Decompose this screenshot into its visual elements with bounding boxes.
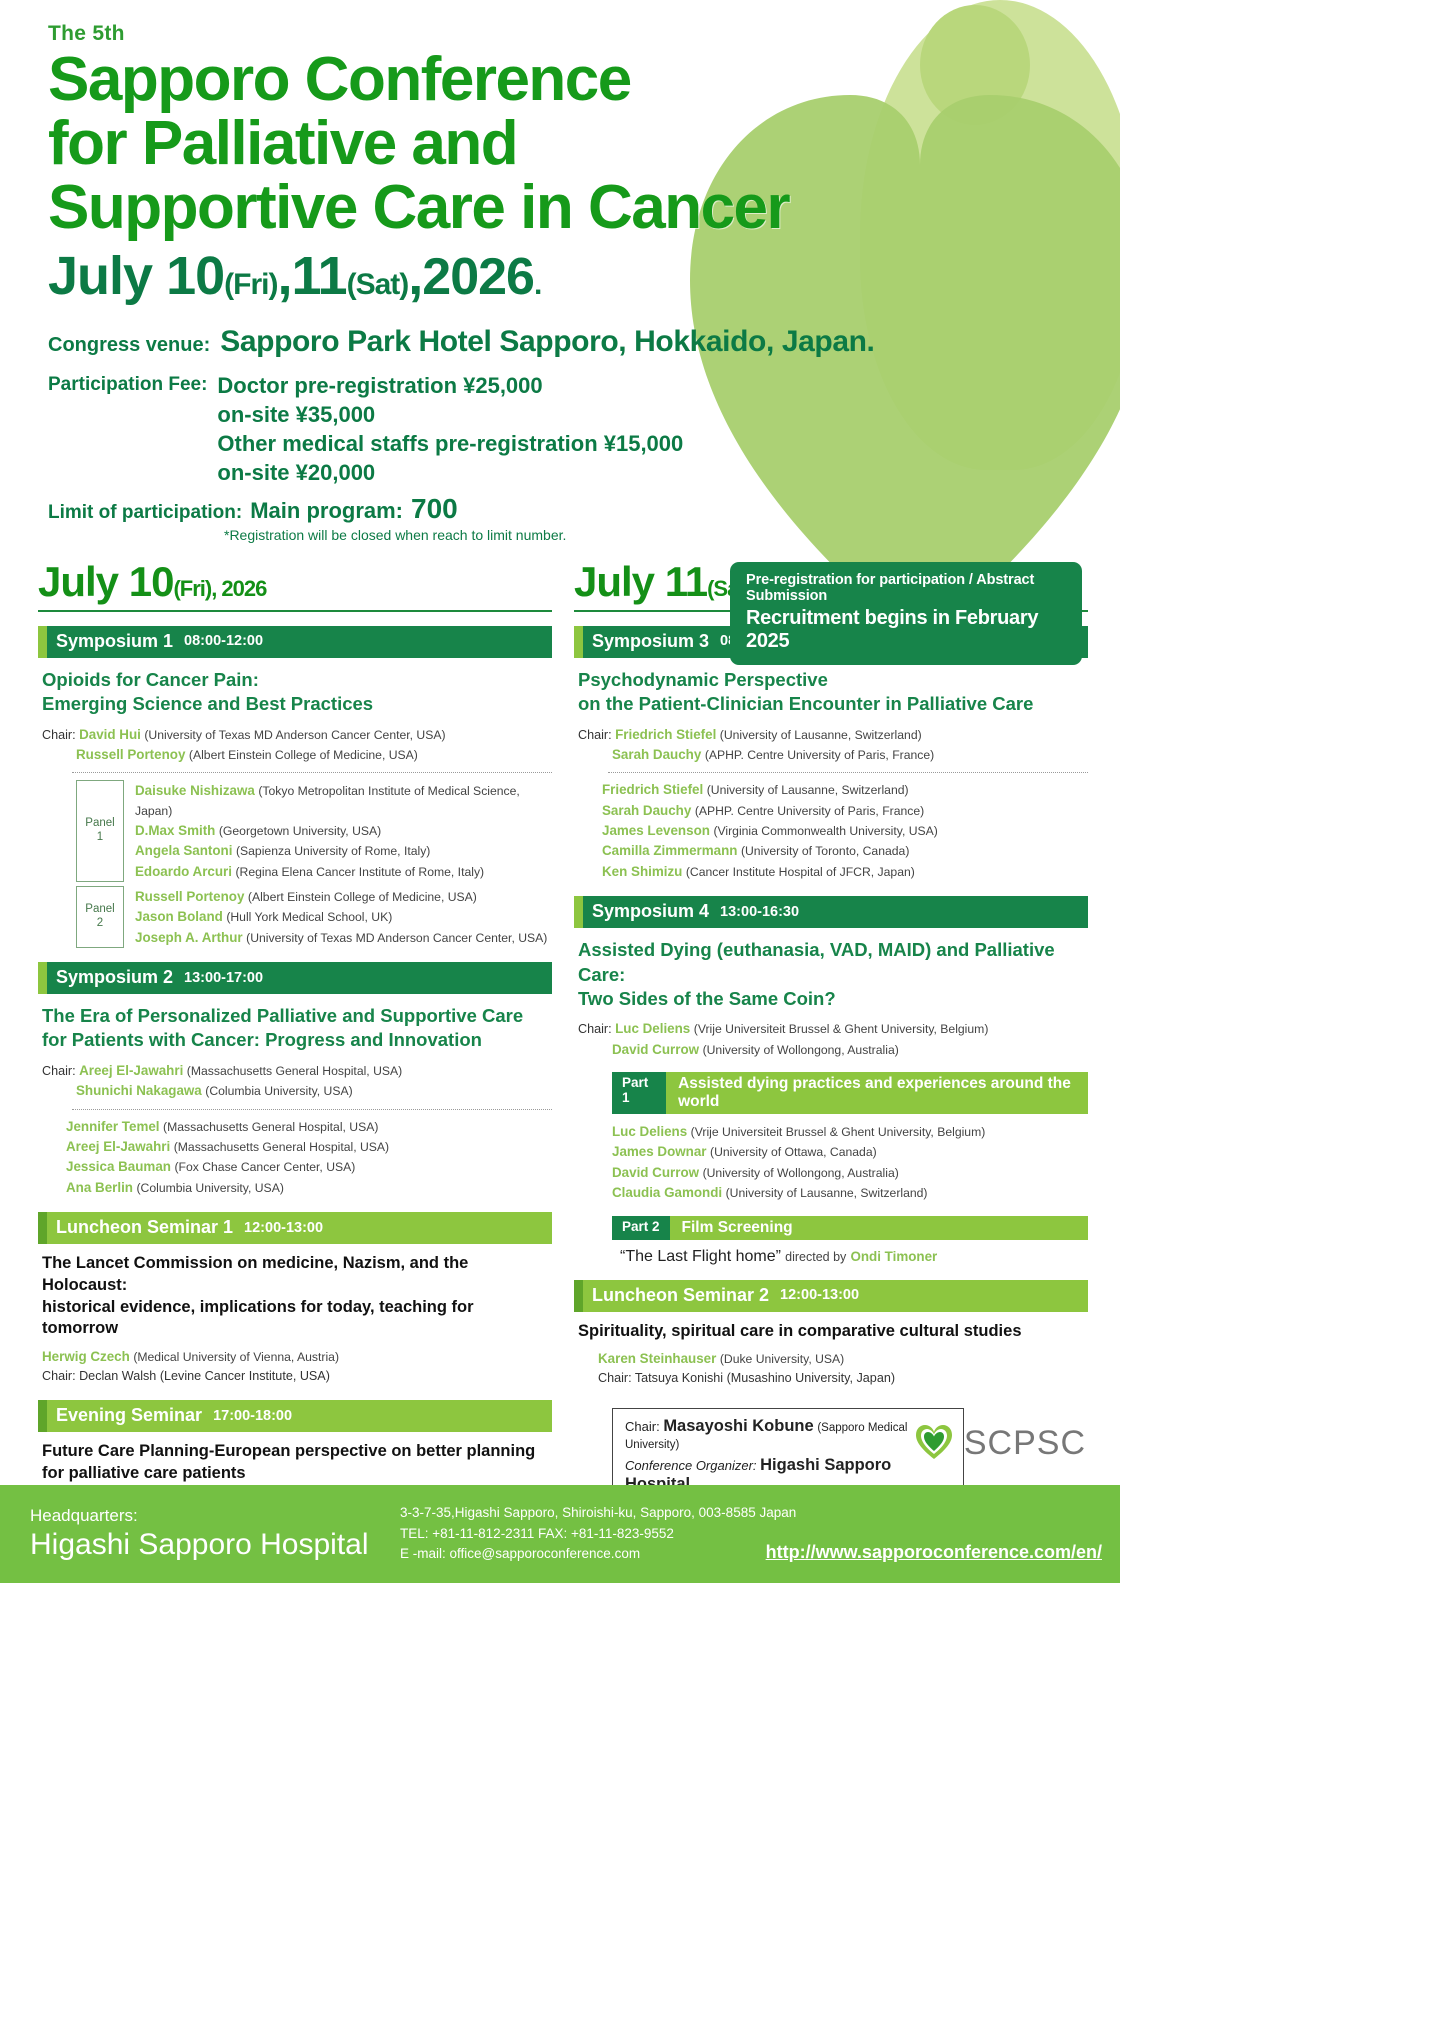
conference-dates: July 10(Fri),11(Sat),2026. xyxy=(48,249,1120,303)
day-1-rule xyxy=(38,610,552,612)
chair-affiliation: (Massachusetts General Hospital, USA) xyxy=(187,1064,402,1078)
session-bar-luncheon-2: Luncheon Seminar 2 12:00-13:00 xyxy=(574,1280,1088,1312)
speaker-affiliation: (Albert Einstein College of Medicine, US… xyxy=(248,890,477,904)
chair-line: Shunichi Nakagawa (Columbia University, … xyxy=(42,1081,552,1101)
speaker-line: Camilla Zimmermann (University of Toront… xyxy=(602,841,1088,861)
speaker-line: Areej El-Jawahri (Massachusetts General … xyxy=(66,1137,552,1157)
panel-row-1: Panel 1 Daisuke Nishizawa (Tokyo Metropo… xyxy=(76,780,552,882)
speaker-name: Claudia Gamondi xyxy=(612,1185,722,1200)
chair-line: Chair: David Hui (University of Texas MD… xyxy=(42,725,552,745)
speaker-affiliation: (Hull York Medical School, UK) xyxy=(226,910,392,924)
day-1-column: July 10(Fri), 2026 Symposium 1 08:00-12:… xyxy=(38,561,552,1550)
speaker-name: Friedrich Stiefel xyxy=(602,782,703,797)
chair-affiliation: (University of Lausanne, Switzerland) xyxy=(720,728,922,742)
speaker-line: James Levenson (Virginia Commonwealth Un… xyxy=(602,821,1088,841)
speaker-name: Ana Berlin xyxy=(66,1180,133,1195)
organizer-label: Conference Organizer: xyxy=(625,1458,757,1473)
chairs-symposium-4: Chair: Luc Deliens (Vrije Universiteit B… xyxy=(578,1019,1088,1060)
part-2-bar: Part 2 Film Screening xyxy=(612,1216,1088,1240)
date-day-1: 10 xyxy=(166,246,224,306)
speaker-name: Luc Deliens xyxy=(612,1124,687,1139)
speaker-affiliation: (Fox Chase Cancer Center, USA) xyxy=(174,1160,355,1174)
date-day-2: 11 xyxy=(292,246,347,306)
part-1-title: Assisted dying practices and experiences… xyxy=(666,1072,1088,1114)
speaker-line: Ana Berlin (Columbia University, USA) xyxy=(66,1178,552,1198)
edition-kicker: The 5th xyxy=(48,22,1120,46)
luncheon-1-speaker: Herwig Czech (Medical University of Vien… xyxy=(42,1347,552,1367)
limit-number: 700 xyxy=(411,493,458,525)
chairs-symposium-3: Chair: Friedrich Stiefel (University of … xyxy=(578,725,1088,766)
speaker-line: Russell Portenoy (Albert Einstein Colleg… xyxy=(135,887,547,907)
chair-label: Chair: xyxy=(578,728,612,742)
session-title-symposium-4: Assisted Dying (euthanasia, VAD, MAID) a… xyxy=(578,938,1088,1011)
speaker-affiliation: (Duke University, USA) xyxy=(720,1352,844,1366)
panel-label: Panel xyxy=(85,817,114,831)
chair-name: Sarah Dauchy xyxy=(612,747,701,762)
speaker-line: D.Max Smith (Georgetown University, USA) xyxy=(135,821,552,841)
session-bar-luncheon-1: Luncheon Seminar 1 12:00-13:00 xyxy=(38,1212,552,1244)
divider-dotted xyxy=(608,772,1088,773)
poster-footer: Headquarters: Higashi Sapporo Hospital 3… xyxy=(0,1485,1120,1583)
part-1-speaker-list: Luc Deliens (Vrije Universiteit Brussel … xyxy=(612,1122,1088,1204)
organizer-chair-label: Chair: xyxy=(625,1419,660,1434)
session-time: 17:00-18:00 xyxy=(213,1408,292,1424)
panel-box-2: Panel 2 xyxy=(76,886,124,948)
organizer-chair-row: Chair: Masayoshi Kobune (Sapporo Medical… xyxy=(625,1417,951,1451)
speaker-affiliation: (Georgetown University, USA) xyxy=(219,824,381,838)
date-year: 2026 xyxy=(422,248,534,306)
participation-fee-block: Participation Fee: Doctor pre-registrati… xyxy=(48,371,1120,487)
divider-dotted xyxy=(72,772,552,773)
session-time: 12:00-13:00 xyxy=(780,1287,859,1303)
speaker-name: Daisuke Nishizawa xyxy=(135,783,255,798)
speaker-affiliation: (Massachusetts General Hospital, USA) xyxy=(163,1120,378,1134)
speaker-name: Areej El-Jawahri xyxy=(66,1139,170,1154)
date-month: July xyxy=(48,246,152,306)
speaker-affiliation: (APHP. Centre University of Paris, Franc… xyxy=(695,804,924,818)
fee-line-doctor-pre: Doctor pre-registration ¥25,000 xyxy=(217,371,683,400)
session-name: Symposium 2 xyxy=(47,967,173,988)
speaker-line: Luc Deliens (Vrije Universiteit Brussel … xyxy=(612,1122,1088,1142)
chair-line: Sarah Dauchy (APHP. Centre University of… xyxy=(578,745,1088,765)
panel-number: 1 xyxy=(97,831,103,845)
session-title-luncheon-1: The Lancet Commission on medicine, Nazis… xyxy=(42,1253,552,1340)
speaker-affiliation: (University of Toronto, Canada) xyxy=(741,844,909,858)
chair-name: Areej El-Jawahri xyxy=(79,1063,183,1078)
chair-affiliation: (University of Wollongong, Australia) xyxy=(703,1043,899,1057)
scpsc-logo: SCPSC xyxy=(914,1423,1086,1463)
poster-header: The 5th Sapporo Conference for Palliativ… xyxy=(0,0,1120,543)
part-1-tag: Part 1 xyxy=(612,1072,666,1114)
speaker-name: Herwig Czech xyxy=(42,1349,130,1364)
speaker-name: David Currow xyxy=(612,1165,699,1180)
speaker-line: Friedrich Stiefel (University of Lausann… xyxy=(602,780,1088,800)
speaker-affiliation: (University of Ottawa, Canada) xyxy=(710,1145,877,1159)
chair-label: Chair: xyxy=(42,728,76,742)
panel-box-1: Panel 1 xyxy=(76,780,124,882)
chair-line: Chair: Areej El-Jawahri (Massachusetts G… xyxy=(42,1061,552,1081)
film-title: “The Last Flight home” xyxy=(620,1248,781,1265)
speaker-line: Jessica Bauman (Fox Chase Cancer Center,… xyxy=(66,1157,552,1177)
speaker-list-symposium-3: Friedrich Stiefel (University of Lausann… xyxy=(602,780,1088,882)
session-bar-symposium-2: Symposium 2 13:00-17:00 xyxy=(38,962,552,994)
speaker-line: Jennifer Temel (Massachusetts General Ho… xyxy=(66,1117,552,1137)
fee-lines: Doctor pre-registration ¥25,000 on-site … xyxy=(217,371,683,487)
panel-speaker-list: Daisuke Nishizawa (Tokyo Metropolitan In… xyxy=(135,780,552,882)
speaker-line: James Downar (University of Ottawa, Cana… xyxy=(612,1142,1088,1162)
speaker-name: Jennifer Temel xyxy=(66,1119,160,1134)
speaker-name: D.Max Smith xyxy=(135,823,215,838)
chair-affiliation: (University of Texas MD Anderson Cancer … xyxy=(144,728,445,742)
panel-row-2: Panel 2 Russell Portenoy (Albert Einstei… xyxy=(76,886,552,948)
speaker-name: Ken Shimizu xyxy=(602,864,682,879)
speaker-affiliation: (Massachusetts General Hospital, USA) xyxy=(174,1140,389,1154)
chair-affiliation: (Columbia University, USA) xyxy=(205,1084,352,1098)
banner-line-1: Pre-registration for participation / Abs… xyxy=(746,572,1066,604)
chair-name: David Hui xyxy=(79,727,141,742)
date-period: . xyxy=(534,268,541,301)
speaker-line: Joseph A. Arthur (University of Texas MD… xyxy=(135,928,547,948)
session-name: Symposium 3 xyxy=(583,631,709,652)
limit-value: Main program: xyxy=(250,498,403,524)
chair-name: Shunichi Nakagawa xyxy=(76,1083,202,1098)
session-name: Symposium 4 xyxy=(583,901,709,922)
film-directed-label: directed by xyxy=(785,1250,846,1264)
chair-line: Chair: Luc Deliens (Vrije Universiteit B… xyxy=(578,1019,1088,1039)
venue-value: Sapporo Park Hotel Sapporo, Hokkaido, Ja… xyxy=(220,325,874,359)
day-1-title: July 10(Fri), 2026 xyxy=(38,561,552,603)
session-name: Symposium 1 xyxy=(47,631,173,652)
session-title-luncheon-2: Spirituality, spiritual care in comparat… xyxy=(578,1321,1088,1343)
speaker-affiliation: (Virginia Commonwealth University, USA) xyxy=(713,824,937,838)
speaker-line: Daisuke Nishizawa (Tokyo Metropolitan In… xyxy=(135,781,552,821)
speaker-name: Camilla Zimmermann xyxy=(602,843,737,858)
speaker-name: Joseph A. Arthur xyxy=(135,930,243,945)
limit-note: *Registration will be closed when reach … xyxy=(224,527,1120,543)
speaker-list-symposium-2: Jennifer Temel (Massachusetts General Ho… xyxy=(66,1117,552,1199)
luncheon-2-speaker: Karen Steinhauser (Duke University, USA) xyxy=(598,1349,1088,1369)
fee-line-doctor-onsite: on-site ¥35,000 xyxy=(217,400,683,429)
day-1-title-main: July 10 xyxy=(38,558,173,605)
date-dow-1: (Fri) xyxy=(224,268,277,301)
panel-speaker-list: Russell Portenoy (Albert Einstein Colleg… xyxy=(135,886,547,948)
venue-row: Congress venue: Sapporo Park Hotel Sappo… xyxy=(48,325,1120,359)
session-name: Luncheon Seminar 1 xyxy=(47,1217,233,1238)
speaker-line: David Currow (University of Wollongong, … xyxy=(612,1163,1088,1183)
session-bar-symposium-4: Symposium 4 13:00-16:30 xyxy=(574,896,1088,928)
chair-affiliation: (Albert Einstein College of Medicine, US… xyxy=(189,748,418,762)
session-title-evening: Future Care Planning-European perspectiv… xyxy=(42,1441,552,1485)
page-title: Sapporo Conference for Palliative and Su… xyxy=(48,48,1120,240)
speaker-affiliation: (University of Lausanne, Switzerland) xyxy=(707,783,909,797)
date-separator: , xyxy=(277,246,291,306)
speaker-line: Jason Boland (Hull York Medical School, … xyxy=(135,907,547,927)
chair-affiliation: (APHP. Centre University of Paris, Franc… xyxy=(705,748,934,762)
chair-line: Russell Portenoy (Albert Einstein Colleg… xyxy=(42,745,552,765)
part-1-bar: Part 1 Assisted dying practices and expe… xyxy=(612,1072,1088,1114)
footer-website-link[interactable]: http://www.sapporoconference.com/en/ xyxy=(766,1539,1102,1567)
speaker-affiliation: (University of Wollongong, Australia) xyxy=(703,1166,899,1180)
speaker-name: James Downar xyxy=(612,1144,707,1159)
part-2-tag: Part 2 xyxy=(612,1216,670,1240)
speaker-name: Karen Steinhauser xyxy=(598,1351,716,1366)
conference-poster: The 5th Sapporo Conference for Palliativ… xyxy=(0,0,1120,1583)
session-bar-symposium-1: Symposium 1 08:00-12:00 xyxy=(38,626,552,658)
luncheon-1-chair-note: Chair: Declan Walsh (Levine Cancer Insti… xyxy=(42,1367,552,1386)
title-line-2: for Palliative and xyxy=(48,112,1120,176)
footer-hq-name: Higashi Sapporo Hospital xyxy=(30,1528,400,1562)
chairs-symposium-2: Chair: Areej El-Jawahri (Massachusetts G… xyxy=(42,1061,552,1102)
fee-line-staff-pre: Other medical staffs pre-registration ¥1… xyxy=(217,429,683,458)
speaker-name: Angela Santoni xyxy=(135,843,232,858)
footer-headquarters: Headquarters: Higashi Sapporo Hospital xyxy=(0,1506,400,1562)
session-time: 13:00-16:30 xyxy=(720,904,799,920)
speaker-affiliation: (Vrije Universiteit Brussel & Ghent Univ… xyxy=(691,1125,986,1139)
organizer-chair-name: Masayoshi Kobune xyxy=(663,1417,813,1435)
speaker-line: Ken Shimizu (Cancer Institute Hospital o… xyxy=(602,862,1088,882)
divider-dotted xyxy=(72,1109,552,1110)
session-time: 12:00-13:00 xyxy=(244,1220,323,1236)
session-name: Luncheon Seminar 2 xyxy=(583,1285,769,1306)
film-screening-line: “The Last Flight home” directed by Ondi … xyxy=(620,1248,1088,1266)
session-title-symposium-1: Opioids for Cancer Pain:Emerging Science… xyxy=(42,668,552,717)
session-title-symposium-3: Psychodynamic Perspectiveon the Patient-… xyxy=(578,668,1088,717)
speaker-name: Jessica Bauman xyxy=(66,1159,171,1174)
chair-name: Friedrich Stiefel xyxy=(615,727,716,742)
participation-limit-row: Limit of participation: Main program: 70… xyxy=(48,493,1120,525)
speaker-affiliation: (Columbia University, USA) xyxy=(136,1181,283,1195)
venue-label: Congress venue: xyxy=(48,334,210,357)
film-director-name: Ondi Timoner xyxy=(850,1249,937,1264)
chair-name: Russell Portenoy xyxy=(76,747,185,762)
session-time: 08:00-12:00 xyxy=(184,633,263,649)
session-title-symposium-2: The Era of Personalized Palliative and S… xyxy=(42,1004,552,1053)
banner-line-2: Recruitment begins in February 2025 xyxy=(746,607,1066,653)
day-2-column: July 11(Sat), 2026 Symposium 3 08:00-12:… xyxy=(574,561,1088,1550)
chair-label: Chair: xyxy=(578,1022,612,1036)
speaker-affiliation: (University of Texas MD Anderson Cancer … xyxy=(246,931,547,945)
date-comma: , xyxy=(408,246,422,306)
date-dow-2: (Sat) xyxy=(347,268,409,301)
scpsc-wordmark: SCPSC xyxy=(964,1424,1086,1463)
speaker-name: Jason Boland xyxy=(135,909,223,924)
footer-hq-label: Headquarters: xyxy=(30,1506,400,1526)
speaker-line: Claudia Gamondi (University of Lausanne,… xyxy=(612,1183,1088,1203)
speaker-affiliation: (University of Lausanne, Switzerland) xyxy=(726,1186,928,1200)
speaker-line: Sarah Dauchy (APHP. Centre University of… xyxy=(602,801,1088,821)
chair-line: David Currow (University of Wollongong, … xyxy=(578,1040,1088,1060)
speaker-affiliation: (Cancer Institute Hospital of JFCR, Japa… xyxy=(686,865,915,879)
footer-address: 3-3-7-35,Higashi Sapporo, Shiroishi-ku, … xyxy=(400,1503,1120,1524)
title-line-1: Sapporo Conference xyxy=(48,48,1120,112)
session-bar-evening: Evening Seminar 17:00-18:00 xyxy=(38,1400,552,1432)
chair-line: Chair: Friedrich Stiefel (University of … xyxy=(578,725,1088,745)
panel-label: Panel xyxy=(85,903,114,917)
fee-line-staff-onsite: on-site ¥20,000 xyxy=(217,458,683,487)
speaker-affiliation: (Medical University of Vienna, Austria) xyxy=(133,1350,339,1364)
luncheon-2-chair-note: Chair: Tatsuya Konishi (Musashino Univer… xyxy=(598,1369,1088,1388)
speaker-line: Edoardo Arcuri (Regina Elena Cancer Inst… xyxy=(135,862,552,882)
chair-affiliation: (Vrije Universiteit Brussel & Ghent Univ… xyxy=(694,1022,989,1036)
program-columns: July 10(Fri), 2026 Symposium 1 08:00-12:… xyxy=(0,543,1120,1550)
speaker-name: Sarah Dauchy xyxy=(602,803,691,818)
title-line-3: Supportive Care in Cancer xyxy=(48,176,1120,240)
speaker-affiliation: (Sapienza University of Rome, Italy) xyxy=(236,844,430,858)
part-2-title: Film Screening xyxy=(670,1216,805,1240)
speaker-name: Russell Portenoy xyxy=(135,889,244,904)
day-2-title-main: July 11 xyxy=(574,558,707,605)
speaker-line: Angela Santoni (Sapienza University of R… xyxy=(135,841,552,861)
day-1-title-sub: (Fri), 2026 xyxy=(173,576,266,601)
limit-label: Limit of participation: xyxy=(48,502,242,524)
chair-name: David Currow xyxy=(612,1042,699,1057)
session-time: 13:00-17:00 xyxy=(184,970,263,986)
fee-label: Participation Fee: xyxy=(48,371,207,396)
speaker-name: Edoardo Arcuri xyxy=(135,864,232,879)
chairs-symposium-1: Chair: David Hui (University of Texas MD… xyxy=(42,725,552,766)
speaker-affiliation: (Regina Elena Cancer Institute of Rome, … xyxy=(235,865,484,879)
speaker-name: James Levenson xyxy=(602,823,710,838)
heart-logo-icon xyxy=(914,1423,954,1463)
panel-number: 2 xyxy=(97,917,103,931)
pre-registration-banner: Pre-registration for participation / Abs… xyxy=(730,562,1082,665)
session-name: Evening Seminar xyxy=(47,1405,202,1426)
footer-contact: 3-3-7-35,Higashi Sapporo, Shiroishi-ku, … xyxy=(400,1503,1120,1566)
chair-name: Luc Deliens xyxy=(615,1021,690,1036)
chair-label: Chair: xyxy=(42,1064,76,1078)
